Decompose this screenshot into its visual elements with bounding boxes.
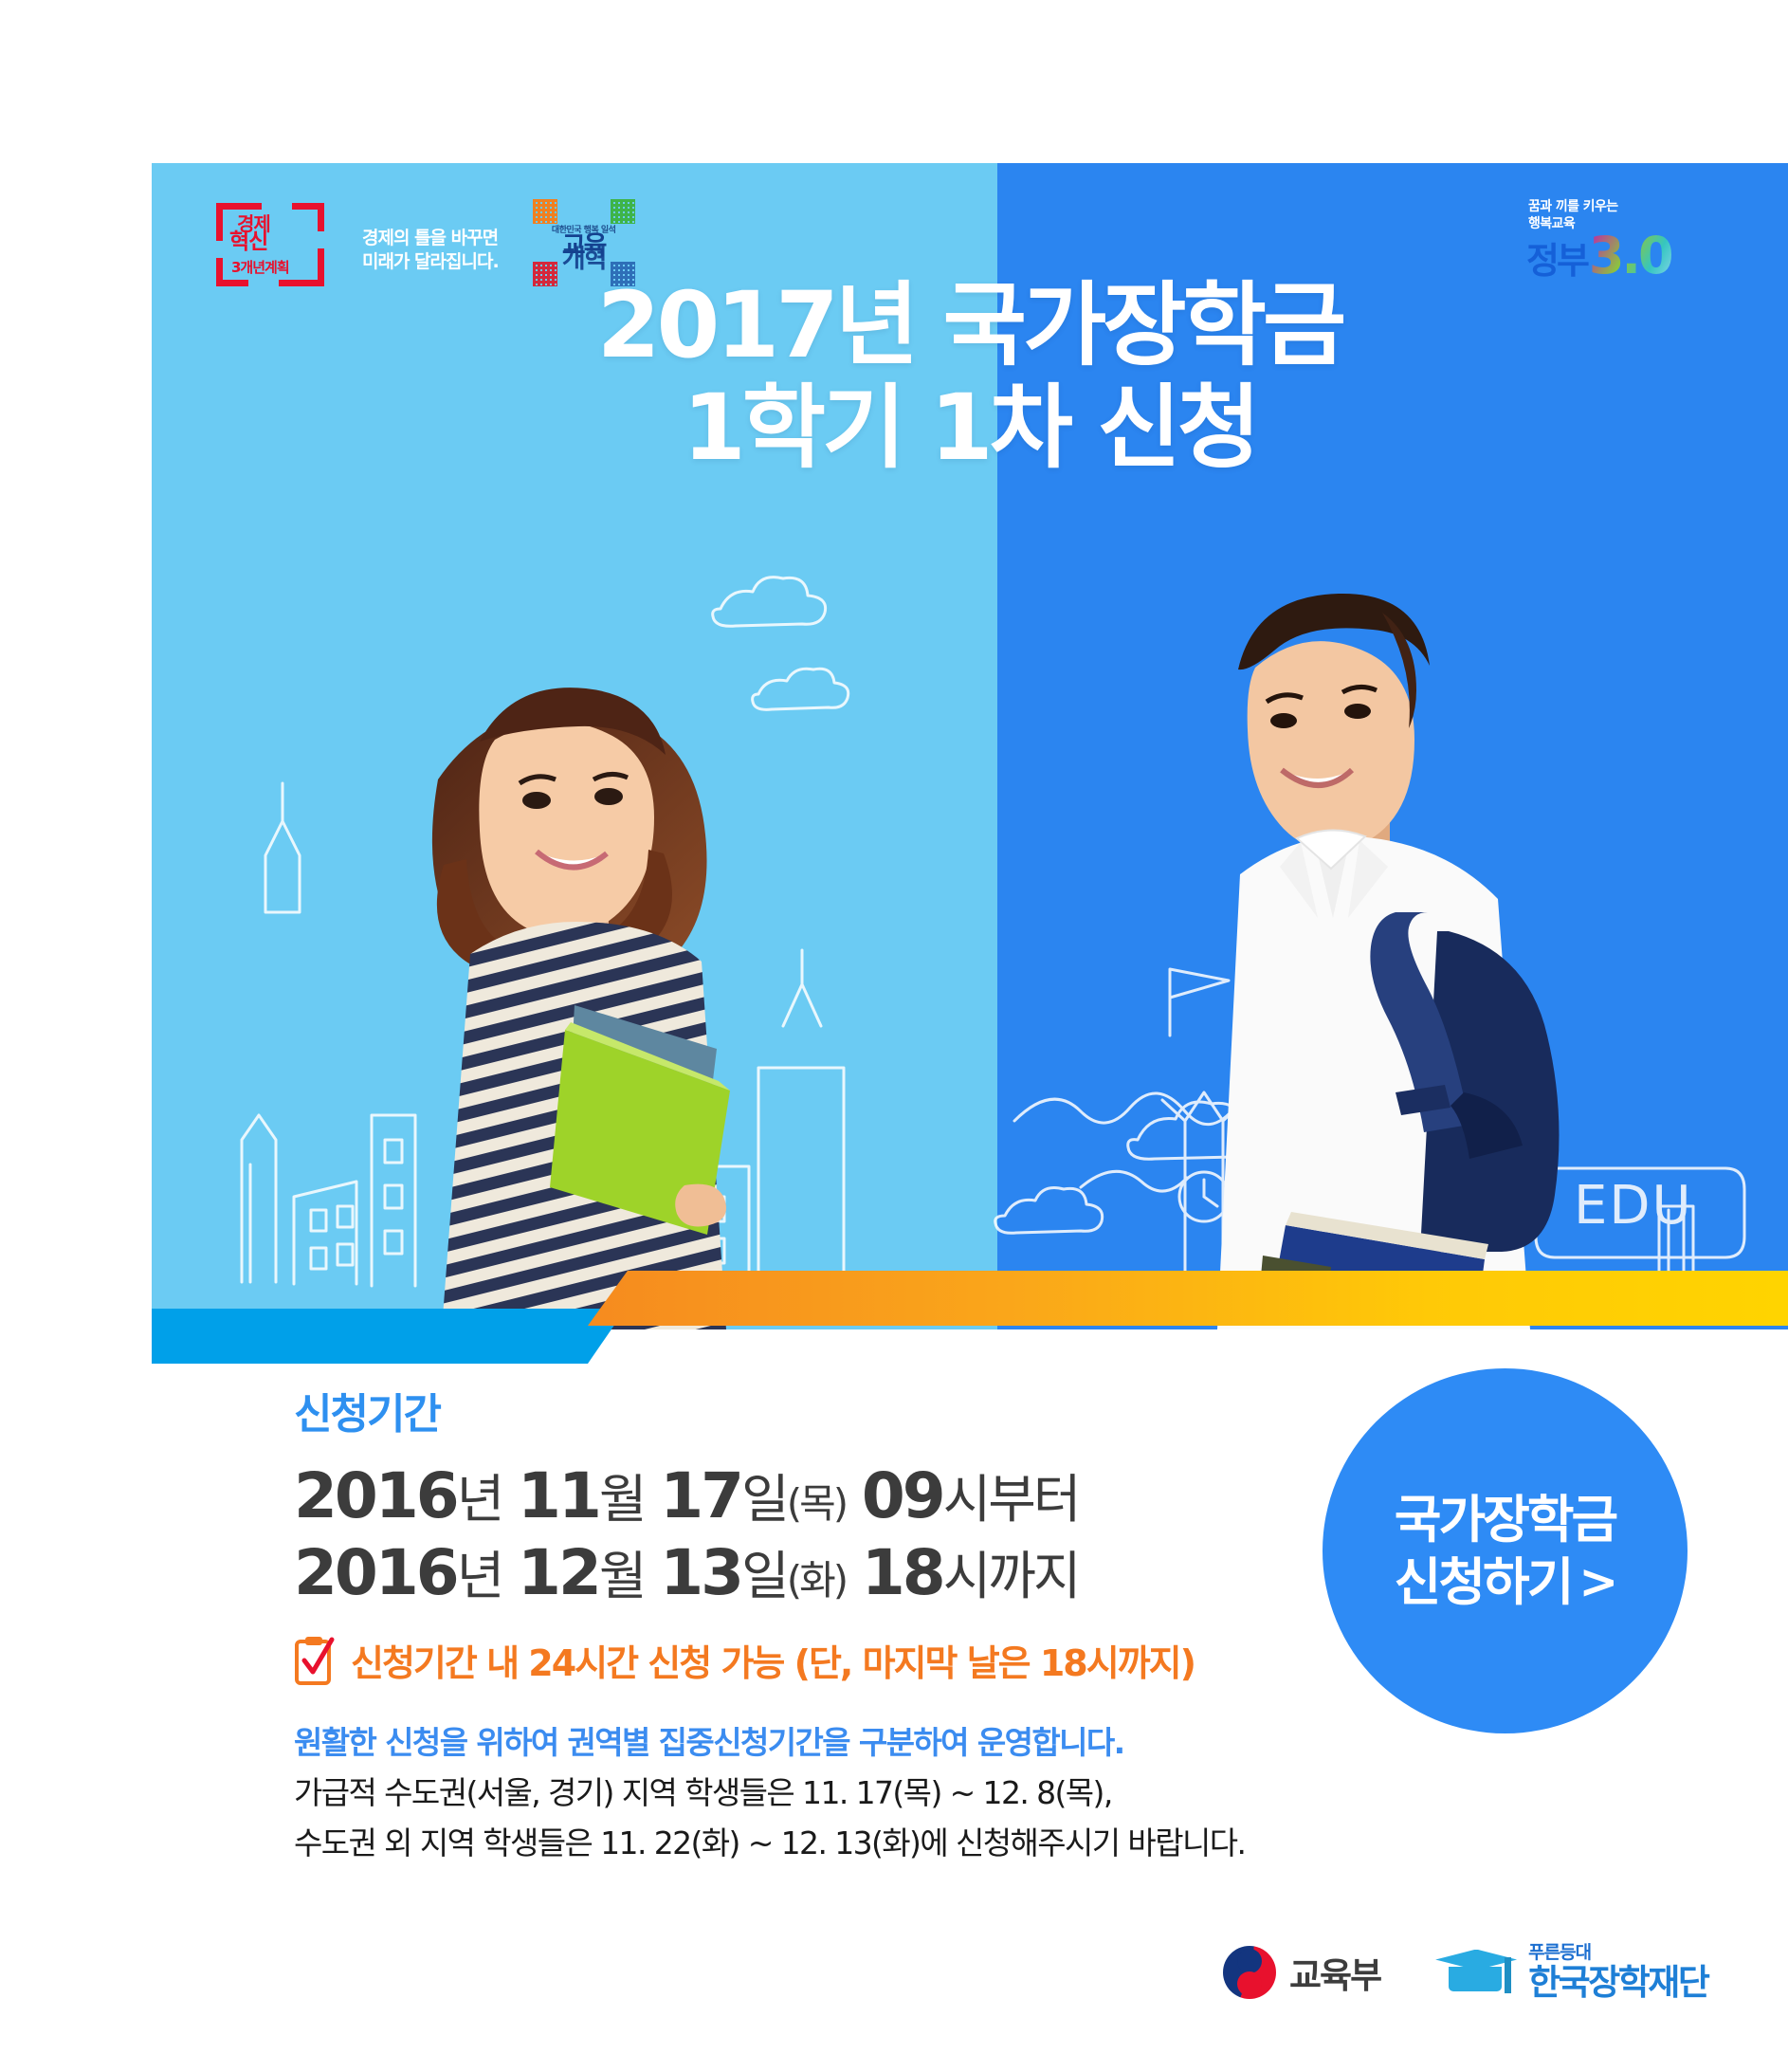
end-day-unit: 일 (741, 1546, 787, 1606)
kosaf-logo: 푸른등대 한국장학재단 (1435, 1944, 1707, 2000)
start-year-unit: 년 (457, 1469, 502, 1530)
gov-tagline-line1: 꿈과 끼를 키우는 (1528, 199, 1701, 216)
start-day-unit: 일 (741, 1469, 787, 1530)
end-day: 13 (660, 1536, 741, 1609)
taegeuk-icon (1223, 1946, 1276, 1999)
government-30-logo: 꿈과 끼를 키우는 행복교육 정부 3.0 (1521, 199, 1701, 278)
checklist-icon (294, 1636, 336, 1685)
ministry-of-education-logo: 교육부 (1223, 1946, 1380, 1999)
end-month: 12 (518, 1536, 599, 1609)
male-student-photo (1172, 561, 1617, 1329)
kosaf-text: 푸른등대 한국장학재단 (1528, 1944, 1707, 2000)
chevron-right-icon: > (1578, 1553, 1615, 1611)
female-student-photo (351, 628, 749, 1329)
hero-bottom-bars (152, 1252, 1788, 1366)
end-year: 2016 (294, 1536, 457, 1609)
edu-square-green (611, 199, 635, 224)
application-info-section: 신청기간 2016년 11월 17일(목) 09시부터 2016년 12월 13… (294, 1394, 1299, 1868)
start-hour: 09 (862, 1459, 943, 1532)
start-hour-unit: 시부터 (943, 1469, 1079, 1530)
economic-innovation-logo: 경제 혁신 3개년계획 (216, 203, 330, 286)
bracket-top-right (292, 203, 324, 231)
hero-title-line1: 2017년 국가장학금 (152, 275, 1788, 377)
ministry-of-education-name: 교육부 (1289, 1947, 1380, 1998)
availability-note-row: 신청기간 내 24시간 신청 가능 (단, 마지막 날은 18시까지) (294, 1634, 1299, 1686)
footer-logos: 교육부 푸른등대 한국장학재단 (1223, 1944, 1707, 2000)
kosaf-sub-name: 푸른등대 (1528, 1944, 1707, 1962)
start-month: 11 (518, 1459, 599, 1532)
hero-title-line2: 1학기 1차 신청 (152, 377, 1788, 480)
cap-tassel (1505, 1957, 1511, 1993)
hero-banner: EDU 경제 혁신 3개년계획 경제의 틀을 바꾸면 미래가 달라집니다. 대한… (152, 163, 1788, 1329)
guidance-line-3: 수도권 외 지역 학생들은 11. 22(화) ~ 12. 13(화)에 신청해… (294, 1819, 1299, 1869)
bottom-bar-blue (152, 1309, 645, 1364)
cta-line-1: 국가장학금 (1395, 1489, 1615, 1551)
gov-logo-word: 정부 (1526, 244, 1587, 278)
end-month-unit: 월 (599, 1546, 645, 1606)
guidance-line-2: 가급적 수도권(서울, 경기) 지역 학생들은 11. 17(목) ~ 12. … (294, 1769, 1299, 1819)
gov-logo-main: 정부 3.0 (1521, 234, 1701, 278)
start-day: 17 (660, 1459, 741, 1532)
econ-logo-line2: 혁신 (229, 231, 267, 253)
cap-body (1449, 1967, 1502, 1991)
graduation-cap-icon (1435, 1946, 1517, 1999)
end-hour: 18 (862, 1536, 943, 1609)
hero-logo-row: 경제 혁신 3개년계획 경제의 틀을 바꾸면 미래가 달라집니다. 대한민국 행… (216, 199, 637, 286)
start-month-unit: 월 (599, 1469, 645, 1530)
bottom-bar-orange (588, 1271, 1788, 1326)
edu-logo-main-text2: 개혁 (531, 247, 637, 272)
econ-tagline-line2: 미래가 달라집니다. (362, 250, 499, 275)
availability-note-text: 신청기간 내 24시간 신청 가능 (단, 마지막 날은 18시까지) (351, 1634, 1195, 1686)
econ-tagline-line1: 경제의 틀을 바꾸면 (362, 227, 499, 251)
cta-line-2: 신청하기 (1395, 1551, 1572, 1614)
kosaf-main-name: 한국장학재단 (1528, 1965, 1707, 2000)
application-start-date: 2016년 11월 17일(목) 09시부터 (294, 1458, 1299, 1535)
end-dayofweek: (화) (787, 1557, 846, 1604)
hero-title: 2017년 국가장학금 1학기 1차 신청 (152, 275, 1788, 479)
end-hour-unit: 시까지 (943, 1546, 1079, 1606)
edu-square-orange (533, 199, 557, 224)
cta-line-2-row: 신청하기 > (1395, 1551, 1616, 1614)
application-period-label: 신청기간 (294, 1394, 1299, 1436)
apply-scholarship-button[interactable]: 국가장학금 신청하기 > (1323, 1368, 1688, 1733)
guidance-line-1: 원활한 신청을 위하여 권역별 집중신청기간을 구분하여 운영합니다. (294, 1718, 1299, 1769)
application-end-date: 2016년 12월 13일(화) 18시까지 (294, 1535, 1299, 1612)
start-dayofweek: (목) (787, 1480, 846, 1527)
start-year: 2016 (294, 1459, 457, 1532)
end-year-unit: 년 (457, 1546, 502, 1606)
econ-logo-line3: 3개년계획 (231, 261, 289, 275)
gov-logo-version: 3.0 (1589, 234, 1671, 278)
regional-guidance-paragraph: 원활한 신청을 위하여 권역별 집중신청기간을 구분하여 운영합니다. 가급적 … (294, 1718, 1299, 1868)
